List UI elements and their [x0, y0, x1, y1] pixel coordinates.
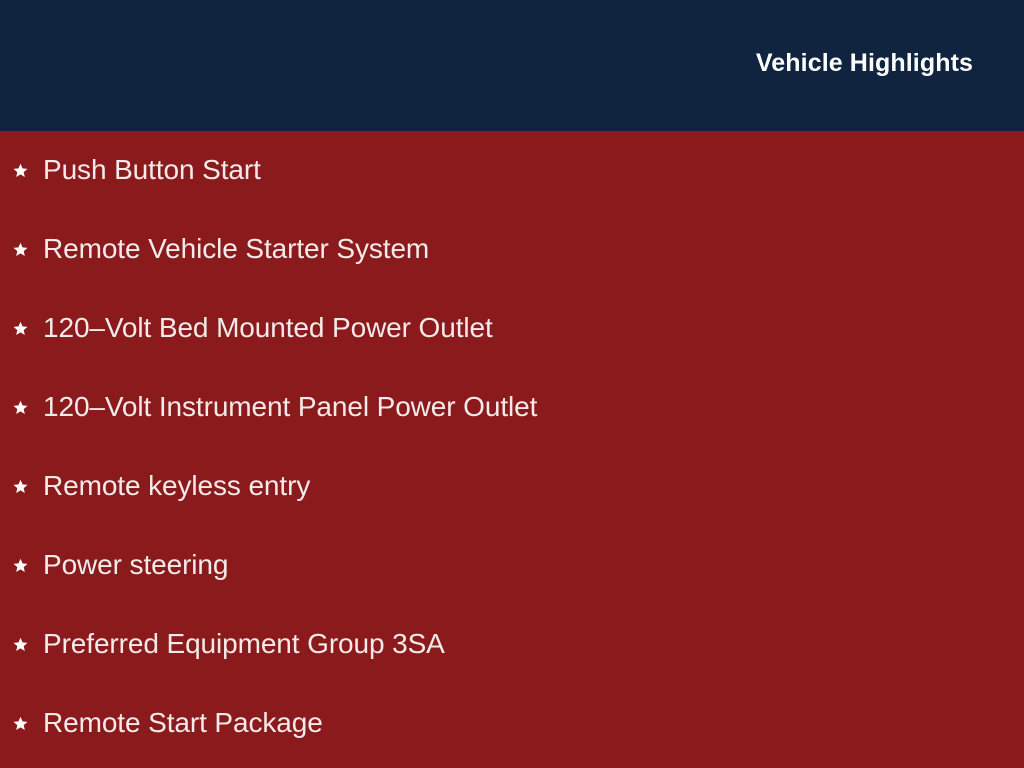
list-item-label: Preferred Equipment Group 3SA [43, 628, 445, 660]
list-item: Push Button Start [0, 131, 1024, 210]
star-icon [13, 716, 28, 731]
star-icon [13, 637, 28, 652]
list-item: Power steering [0, 526, 1024, 605]
list-item-label: Power steering [43, 549, 228, 581]
list-item-label: Remote Vehicle Starter System [43, 233, 429, 265]
slide-body: Push Button Start Remote Vehicle Starter… [0, 131, 1024, 768]
page-title: Vehicle Highlights [756, 48, 973, 78]
list-item: Remote Start Package [0, 684, 1024, 763]
list-item: 120–Volt Instrument Panel Power Outlet [0, 368, 1024, 447]
star-icon [13, 558, 28, 573]
star-icon [13, 163, 28, 178]
list-item: 120–Volt Bed Mounted Power Outlet [0, 289, 1024, 368]
star-icon [13, 479, 28, 494]
star-icon [13, 242, 28, 257]
vehicle-highlights-slide: Vehicle Highlights Push Button Start Rem… [0, 0, 1024, 768]
list-item-label: 120–Volt Instrument Panel Power Outlet [43, 391, 537, 423]
list-item-label: Push Button Start [43, 154, 261, 186]
star-icon [13, 321, 28, 336]
slide-header: Vehicle Highlights [0, 0, 1024, 131]
list-item-label: Remote Start Package [43, 707, 323, 739]
list-item-label: 120–Volt Bed Mounted Power Outlet [43, 312, 493, 344]
list-item-label: Remote keyless entry [43, 470, 310, 502]
list-item: Remote keyless entry [0, 447, 1024, 526]
list-item: Remote Vehicle Starter System [0, 210, 1024, 289]
star-icon [13, 400, 28, 415]
vehicle-highlights-list: Push Button Start Remote Vehicle Starter… [0, 131, 1024, 763]
list-item: Preferred Equipment Group 3SA [0, 605, 1024, 684]
